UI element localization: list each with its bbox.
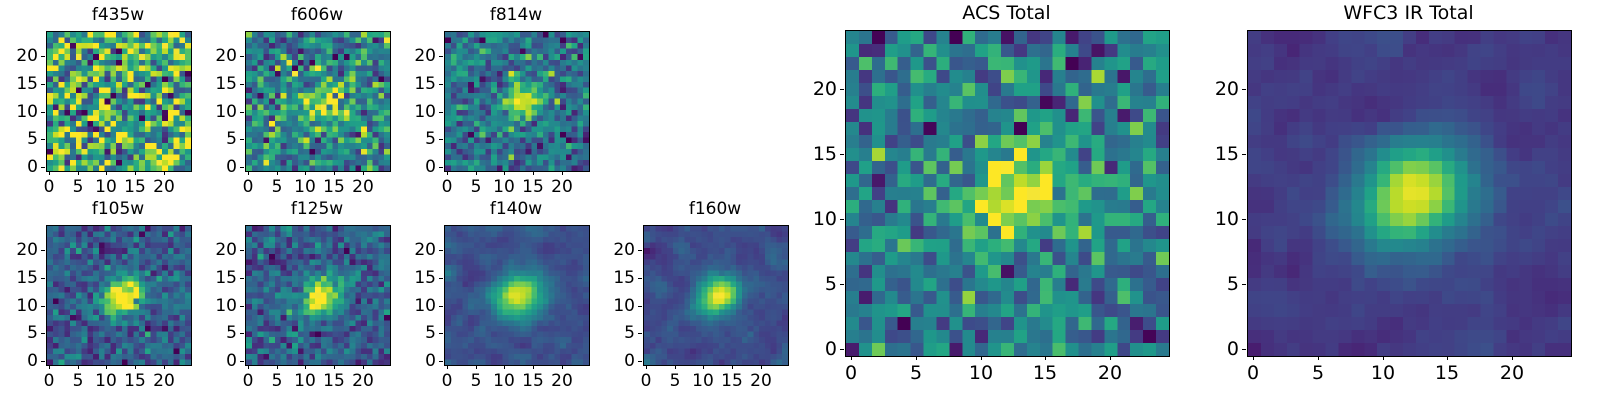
x-tick-f160w-0 <box>646 365 647 369</box>
y-tick-label-f125w-4: 20 <box>175 240 237 260</box>
y-tick-label-f160w-0: 0 <box>573 351 635 371</box>
x-tick-wfc3-ir-total-1 <box>1318 356 1319 360</box>
x-tick-label-f160w-4: 20 <box>750 371 772 391</box>
y-tick-label-f140w-3: 15 <box>374 268 436 288</box>
y-tick-f435w-1 <box>41 139 45 140</box>
y-tick-f814w-4 <box>439 56 443 57</box>
y-tick-acs-total-0 <box>840 349 844 350</box>
x-tick-f606w-1 <box>277 171 278 175</box>
x-tick-f606w-2 <box>305 171 306 175</box>
heatmap-image-f606w <box>246 32 390 171</box>
x-tick-acs-total-1 <box>916 356 917 360</box>
y-tick-f435w-4 <box>41 56 45 57</box>
x-tick-f814w-3 <box>533 171 534 175</box>
y-tick-label-f435w-2: 10 <box>0 102 38 122</box>
x-tick-label-f814w-4: 20 <box>551 177 573 197</box>
y-tick-label-f160w-2: 10 <box>573 296 635 316</box>
y-tick-label-f814w-4: 20 <box>374 46 436 66</box>
x-tick-label-f606w-4: 20 <box>352 177 374 197</box>
y-tick-f814w-1 <box>439 139 443 140</box>
x-tick-label-f160w-0: 0 <box>641 371 652 391</box>
y-tick-f125w-1 <box>240 333 244 334</box>
x-tick-acs-total-4 <box>1110 356 1111 360</box>
y-tick-label-wfc3-ir-total-0: 0 <box>1177 338 1239 360</box>
y-tick-f435w-0 <box>41 167 45 168</box>
x-tick-f160w-1 <box>675 365 676 369</box>
y-tick-f160w-0 <box>638 361 642 362</box>
x-tick-f140w-3 <box>533 365 534 369</box>
x-tick-f606w-3 <box>334 171 335 175</box>
panel-wfc3-ir-total: WFC3 IR Total0510152005101520 <box>1177 0 1600 395</box>
y-tick-label-f160w-4: 20 <box>573 240 635 260</box>
heatmap-axes-wfc3-ir-total[interactable] <box>1247 30 1572 357</box>
x-tick-label-wfc3-ir-total-3: 15 <box>1435 362 1459 384</box>
x-tick-label-f606w-0: 0 <box>243 177 254 197</box>
x-tick-f435w-2 <box>106 171 107 175</box>
x-tick-label-f160w-2: 10 <box>692 371 714 391</box>
x-tick-label-f105w-3: 15 <box>124 371 146 391</box>
x-tick-label-f125w-3: 15 <box>323 371 345 391</box>
heatmap-image-f160w <box>644 226 788 365</box>
y-tick-f105w-1 <box>41 333 45 334</box>
x-tick-label-f814w-3: 15 <box>522 177 544 197</box>
x-tick-f814w-2 <box>504 171 505 175</box>
x-tick-label-f105w-2: 10 <box>95 371 117 391</box>
x-tick-acs-total-3 <box>1045 356 1046 360</box>
y-tick-f160w-4 <box>638 250 642 251</box>
x-tick-label-f435w-1: 5 <box>73 177 84 197</box>
x-tick-label-f125w-1: 5 <box>272 371 283 391</box>
y-tick-f105w-4 <box>41 250 45 251</box>
x-tick-f105w-1 <box>78 365 79 369</box>
y-tick-f606w-3 <box>240 84 244 85</box>
y-tick-f606w-0 <box>240 167 244 168</box>
heatmap-axes-f105w[interactable] <box>46 225 192 366</box>
x-tick-label-f435w-2: 10 <box>95 177 117 197</box>
x-tick-f125w-4 <box>363 365 364 369</box>
y-tick-f125w-4 <box>240 250 244 251</box>
y-tick-f160w-1 <box>638 333 642 334</box>
y-tick-f435w-3 <box>41 84 45 85</box>
y-tick-f606w-2 <box>240 112 244 113</box>
y-tick-label-f125w-2: 10 <box>175 296 237 316</box>
y-tick-label-f105w-3: 15 <box>0 268 38 288</box>
x-tick-label-wfc3-ir-total-0: 0 <box>1247 362 1259 384</box>
y-tick-f105w-2 <box>41 306 45 307</box>
x-tick-f140w-4 <box>562 365 563 369</box>
y-tick-label-f606w-4: 20 <box>175 46 237 66</box>
x-tick-f105w-0 <box>49 365 50 369</box>
y-tick-acs-total-1 <box>840 284 844 285</box>
y-tick-label-f125w-0: 0 <box>175 351 237 371</box>
panel-title-wfc3-ir-total: WFC3 IR Total <box>1177 2 1600 24</box>
x-tick-f160w-3 <box>732 365 733 369</box>
x-tick-label-wfc3-ir-total-1: 5 <box>1312 362 1324 384</box>
x-tick-label-f140w-3: 15 <box>522 371 544 391</box>
x-tick-label-f435w-0: 0 <box>44 177 55 197</box>
y-tick-label-f814w-0: 0 <box>374 157 436 177</box>
y-tick-label-f435w-3: 15 <box>0 74 38 94</box>
x-tick-f125w-3 <box>334 365 335 369</box>
y-tick-label-f105w-0: 0 <box>0 351 38 371</box>
x-tick-wfc3-ir-total-0 <box>1253 356 1254 360</box>
y-tick-f140w-0 <box>439 361 443 362</box>
figure-canvas: f435w0510152005101520f606w05101520051015… <box>0 0 1600 400</box>
x-tick-f160w-4 <box>761 365 762 369</box>
heatmap-axes-f140w[interactable] <box>444 225 590 366</box>
y-tick-label-wfc3-ir-total-4: 20 <box>1177 78 1239 100</box>
y-tick-label-f435w-4: 20 <box>0 46 38 66</box>
x-tick-label-f606w-1: 5 <box>272 177 283 197</box>
y-tick-f814w-0 <box>439 167 443 168</box>
y-tick-f125w-3 <box>240 278 244 279</box>
y-tick-label-acs-total-0: 0 <box>775 338 837 360</box>
x-tick-label-f125w-0: 0 <box>243 371 254 391</box>
y-tick-wfc3-ir-total-4 <box>1242 89 1246 90</box>
y-tick-label-wfc3-ir-total-3: 15 <box>1177 143 1239 165</box>
y-tick-label-f105w-4: 20 <box>0 240 38 260</box>
x-tick-label-f814w-0: 0 <box>442 177 453 197</box>
y-tick-wfc3-ir-total-1 <box>1242 284 1246 285</box>
y-tick-f125w-0 <box>240 361 244 362</box>
x-tick-label-f105w-0: 0 <box>44 371 55 391</box>
y-tick-label-wfc3-ir-total-1: 5 <box>1177 273 1239 295</box>
y-tick-label-acs-total-1: 5 <box>775 273 837 295</box>
x-tick-label-f606w-2: 10 <box>294 177 316 197</box>
y-tick-f105w-0 <box>41 361 45 362</box>
heatmap-axes-f606w[interactable] <box>245 31 391 172</box>
x-tick-wfc3-ir-total-4 <box>1512 356 1513 360</box>
y-tick-label-f814w-3: 15 <box>374 74 436 94</box>
y-tick-f140w-3 <box>439 278 443 279</box>
y-tick-label-f105w-1: 5 <box>0 323 38 343</box>
x-tick-acs-total-2 <box>981 356 982 360</box>
y-tick-wfc3-ir-total-0 <box>1242 349 1246 350</box>
y-tick-label-f105w-2: 10 <box>0 296 38 316</box>
x-tick-label-f125w-4: 20 <box>352 371 374 391</box>
y-tick-acs-total-4 <box>840 89 844 90</box>
panel-f814w: f814w0510152005101520 <box>374 1 658 210</box>
x-tick-f125w-0 <box>248 365 249 369</box>
x-tick-f435w-4 <box>164 171 165 175</box>
y-tick-label-f140w-0: 0 <box>374 351 436 371</box>
x-tick-label-f140w-1: 5 <box>471 371 482 391</box>
heatmap-axes-f160w[interactable] <box>643 225 789 366</box>
heatmap-axes-f814w[interactable] <box>444 31 590 172</box>
x-tick-label-f140w-4: 20 <box>551 371 573 391</box>
heatmap-axes-f125w[interactable] <box>245 225 391 366</box>
x-tick-label-acs-total-0: 0 <box>845 362 857 384</box>
heatmap-axes-f435w[interactable] <box>46 31 192 172</box>
x-tick-label-acs-total-4: 20 <box>1098 362 1122 384</box>
x-tick-f435w-0 <box>49 171 50 175</box>
x-tick-f125w-1 <box>277 365 278 369</box>
x-tick-label-acs-total-2: 10 <box>969 362 993 384</box>
x-tick-f105w-3 <box>135 365 136 369</box>
heatmap-image-wfc3-ir-total <box>1248 31 1571 356</box>
x-tick-label-f140w-0: 0 <box>442 371 453 391</box>
x-tick-f140w-2 <box>504 365 505 369</box>
y-tick-acs-total-3 <box>840 154 844 155</box>
x-tick-wfc3-ir-total-2 <box>1383 356 1384 360</box>
heatmap-image-acs-total <box>846 31 1169 356</box>
x-tick-label-wfc3-ir-total-4: 20 <box>1500 362 1524 384</box>
y-tick-label-f435w-0: 0 <box>0 157 38 177</box>
x-tick-f606w-0 <box>248 171 249 175</box>
y-tick-f160w-2 <box>638 306 642 307</box>
x-tick-f814w-0 <box>447 171 448 175</box>
x-tick-label-f435w-4: 20 <box>153 177 175 197</box>
y-tick-label-f160w-1: 5 <box>573 323 635 343</box>
y-tick-label-f125w-3: 15 <box>175 268 237 288</box>
x-tick-f125w-2 <box>305 365 306 369</box>
y-tick-f140w-1 <box>439 333 443 334</box>
x-tick-f160w-2 <box>703 365 704 369</box>
y-tick-label-f606w-2: 10 <box>175 102 237 122</box>
y-tick-f606w-1 <box>240 139 244 140</box>
panel-title-f814w: f814w <box>374 5 658 25</box>
heatmap-image-f435w <box>47 32 191 171</box>
panel-acs-total: ACS Total0510152005101520 <box>775 0 1238 395</box>
x-tick-label-acs-total-3: 15 <box>1033 362 1057 384</box>
x-tick-f814w-1 <box>476 171 477 175</box>
x-tick-f435w-1 <box>78 171 79 175</box>
heatmap-image-f105w <box>47 226 191 365</box>
y-tick-wfc3-ir-total-3 <box>1242 154 1246 155</box>
heatmap-axes-acs-total[interactable] <box>845 30 1170 357</box>
x-tick-f606w-4 <box>363 171 364 175</box>
y-tick-f606w-4 <box>240 56 244 57</box>
x-tick-label-f105w-4: 20 <box>153 371 175 391</box>
y-tick-f435w-2 <box>41 112 45 113</box>
heatmap-image-f814w <box>445 32 589 171</box>
y-tick-label-f606w-0: 0 <box>175 157 237 177</box>
y-tick-f140w-4 <box>439 250 443 251</box>
x-tick-acs-total-0 <box>851 356 852 360</box>
y-tick-label-acs-total-2: 10 <box>775 208 837 230</box>
y-tick-label-acs-total-3: 15 <box>775 143 837 165</box>
y-tick-label-f140w-2: 10 <box>374 296 436 316</box>
y-tick-acs-total-2 <box>840 219 844 220</box>
y-tick-label-acs-total-4: 20 <box>775 78 837 100</box>
y-tick-label-f160w-3: 15 <box>573 268 635 288</box>
x-tick-label-f125w-2: 10 <box>294 371 316 391</box>
x-tick-label-f814w-1: 5 <box>471 177 482 197</box>
y-tick-label-f435w-1: 5 <box>0 129 38 149</box>
y-tick-label-f125w-1: 5 <box>175 323 237 343</box>
y-tick-label-f814w-2: 10 <box>374 102 436 122</box>
y-tick-f814w-3 <box>439 84 443 85</box>
x-tick-f140w-1 <box>476 365 477 369</box>
panel-title-acs-total: ACS Total <box>775 2 1238 24</box>
y-tick-f140w-2 <box>439 306 443 307</box>
x-tick-f140w-0 <box>447 365 448 369</box>
heatmap-image-f125w <box>246 226 390 365</box>
y-tick-f160w-3 <box>638 278 642 279</box>
y-tick-label-f140w-1: 5 <box>374 323 436 343</box>
x-tick-label-f160w-3: 15 <box>721 371 743 391</box>
y-tick-label-f140w-4: 20 <box>374 240 436 260</box>
x-tick-label-f814w-2: 10 <box>493 177 515 197</box>
x-tick-f105w-2 <box>106 365 107 369</box>
y-tick-wfc3-ir-total-2 <box>1242 219 1246 220</box>
x-tick-f435w-3 <box>135 171 136 175</box>
x-tick-wfc3-ir-total-3 <box>1447 356 1448 360</box>
y-tick-label-wfc3-ir-total-2: 10 <box>1177 208 1239 230</box>
x-tick-label-f606w-3: 15 <box>323 177 345 197</box>
y-tick-label-f814w-1: 5 <box>374 129 436 149</box>
y-tick-f125w-2 <box>240 306 244 307</box>
x-tick-f814w-4 <box>562 171 563 175</box>
y-tick-f105w-3 <box>41 278 45 279</box>
y-tick-label-f606w-3: 15 <box>175 74 237 94</box>
x-tick-label-wfc3-ir-total-2: 10 <box>1371 362 1395 384</box>
heatmap-image-f140w <box>445 226 589 365</box>
x-tick-label-acs-total-1: 5 <box>910 362 922 384</box>
x-tick-label-f160w-1: 5 <box>670 371 681 391</box>
x-tick-label-f435w-3: 15 <box>124 177 146 197</box>
x-tick-label-f140w-2: 10 <box>493 371 515 391</box>
x-tick-f105w-4 <box>164 365 165 369</box>
y-tick-label-f606w-1: 5 <box>175 129 237 149</box>
x-tick-label-f105w-1: 5 <box>73 371 84 391</box>
y-tick-f814w-2 <box>439 112 443 113</box>
